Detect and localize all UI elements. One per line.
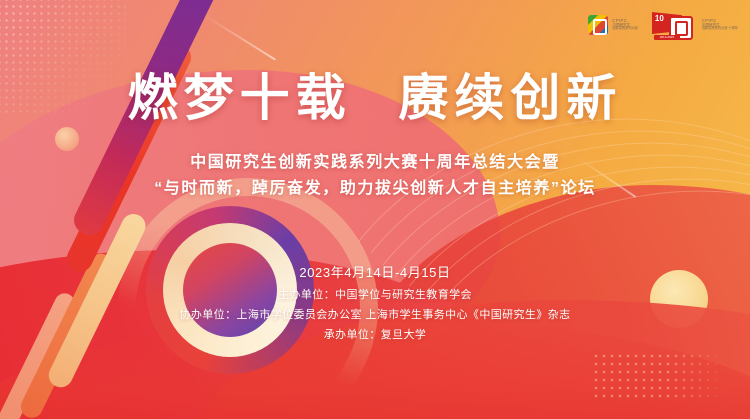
organizer-host: 主办单位：中国学位与研究生教育学会 <box>0 286 750 302</box>
conference-poster: CPIPC 中国研究生 创新实践系列大赛 10 2013-2023 CPIPC … <box>0 0 750 419</box>
poster-text-content: 燃梦十载 赓续创新 中国研究生创新实践系列大赛十周年总结大会暨 “与时而新，踔厉… <box>0 0 750 419</box>
organizer-co: 协办单位：上海市学位委员会办公室 上海市学生事务中心《中国研究生》杂志 <box>0 306 750 322</box>
page-title: 燃梦十载 赓续创新 <box>0 58 750 130</box>
subtitle-line-2: “与时而新，踔厉奋发，助力拔尖创新人才自主培养”论坛 <box>0 174 750 198</box>
subtitle-line-1: 中国研究生创新实践系列大赛十周年总结大会暨 <box>0 148 750 172</box>
event-date: 2023年4月14日-4月15日 <box>0 262 750 281</box>
organizer-undertaker: 承办单位：复旦大学 <box>0 326 750 342</box>
